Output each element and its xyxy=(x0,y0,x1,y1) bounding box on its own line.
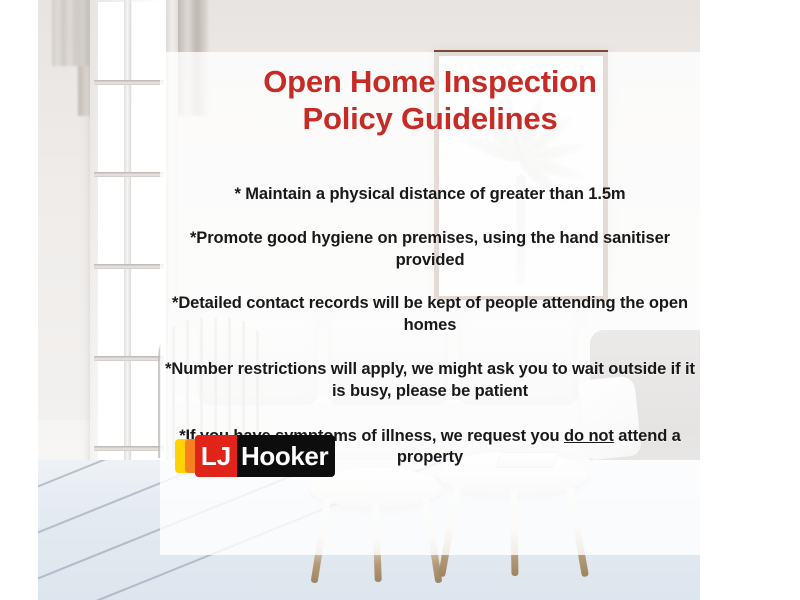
guideline-list: * Maintain a physical distance of greate… xyxy=(160,184,700,469)
guideline-item: * Maintain a physical distance of greate… xyxy=(160,184,700,206)
poster-content: Open Home Inspection Policy Guidelines *… xyxy=(160,52,700,555)
poster-screenshot: LJ Hooker Open Home Inspection Policy Gu… xyxy=(0,0,800,600)
title-line-2: Policy Guidelines xyxy=(302,101,557,136)
letterbox-left xyxy=(0,0,38,600)
window-mullion-horizontal xyxy=(94,356,164,361)
window-mullion-horizontal xyxy=(94,172,164,177)
window-mullion-horizontal xyxy=(94,264,164,269)
page-title: Open Home Inspection Policy Guidelines xyxy=(160,52,700,137)
guideline-item-emphasis: do not xyxy=(564,427,614,445)
logo-monogram: LJ xyxy=(195,435,237,477)
guideline-item: *Number restrictions will apply, we migh… xyxy=(160,359,700,403)
window-mullion-horizontal xyxy=(94,80,164,85)
curtain-secondary xyxy=(52,0,92,66)
logo-wordmark: Hooker xyxy=(241,435,328,477)
lj-hooker-logo: LJ Hooker xyxy=(175,435,335,477)
title-line-1: Open Home Inspection xyxy=(263,64,597,99)
guideline-item: *Promote good hygiene on premises, using… xyxy=(160,228,700,272)
guideline-item: *Detailed contact records will be kept o… xyxy=(160,293,700,337)
window-mullion-horizontal xyxy=(94,446,164,451)
letterbox-right xyxy=(700,0,800,600)
